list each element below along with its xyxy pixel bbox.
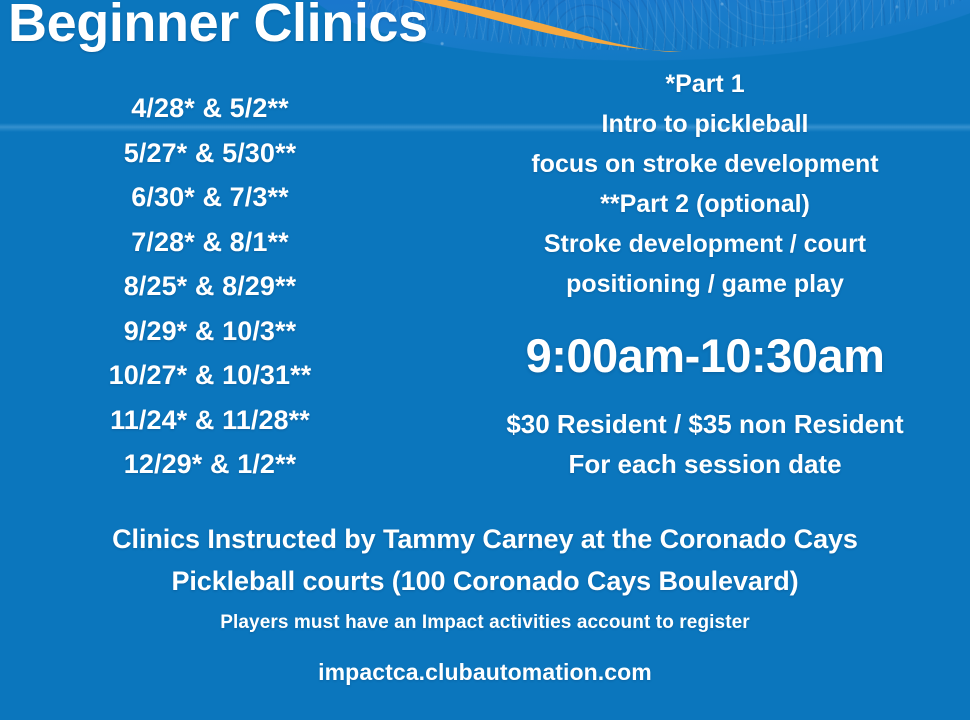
page-title: Beginner Clinics [8, 0, 428, 53]
description-line: focus on stroke development [455, 144, 955, 184]
pricing-line: For each session date [450, 444, 960, 484]
description-line: Stroke development / court [455, 224, 955, 264]
location-line: Pickleball courts (100 Coronado Cays Bou… [0, 560, 970, 602]
location-block: Clinics Instructed by Tammy Carney at th… [0, 518, 970, 602]
list-item: 12/29* & 1/2** [0, 442, 420, 487]
list-item: 6/30* & 7/3** [0, 175, 420, 220]
description-line: *Part 1 [455, 64, 955, 104]
registration-note: Players must have an Impact activities a… [0, 612, 970, 634]
description-line: positioning / game play [455, 264, 955, 304]
list-item: 8/25* & 8/29** [0, 264, 420, 309]
session-dates-list: 4/28* & 5/2** 5/27* & 5/30** 6/30* & 7/3… [0, 86, 420, 487]
clinic-description: *Part 1 Intro to pickleball focus on str… [455, 64, 955, 304]
description-line: **Part 2 (optional) [455, 184, 955, 224]
registration-url[interactable]: impactca.clubautomation.com [0, 659, 970, 686]
list-item: 11/24* & 11/28** [0, 398, 420, 443]
list-item: 9/29* & 10/3** [0, 309, 420, 354]
location-line: Clinics Instructed by Tammy Carney at th… [0, 518, 970, 560]
list-item: 5/27* & 5/30** [0, 131, 420, 176]
pricing-line: $30 Resident / $35 non Resident [450, 404, 960, 444]
session-time: 9:00am-10:30am [455, 328, 955, 383]
flyer-canvas: Beginner Clinics 4/28* & 5/2** 5/27* & 5… [0, 0, 970, 720]
list-item: 4/28* & 5/2** [0, 86, 420, 131]
description-line: Intro to pickleball [455, 104, 955, 144]
list-item: 7/28* & 8/1** [0, 220, 420, 265]
list-item: 10/27* & 10/31** [0, 353, 420, 398]
pricing-block: $30 Resident / $35 non Resident For each… [450, 404, 960, 484]
